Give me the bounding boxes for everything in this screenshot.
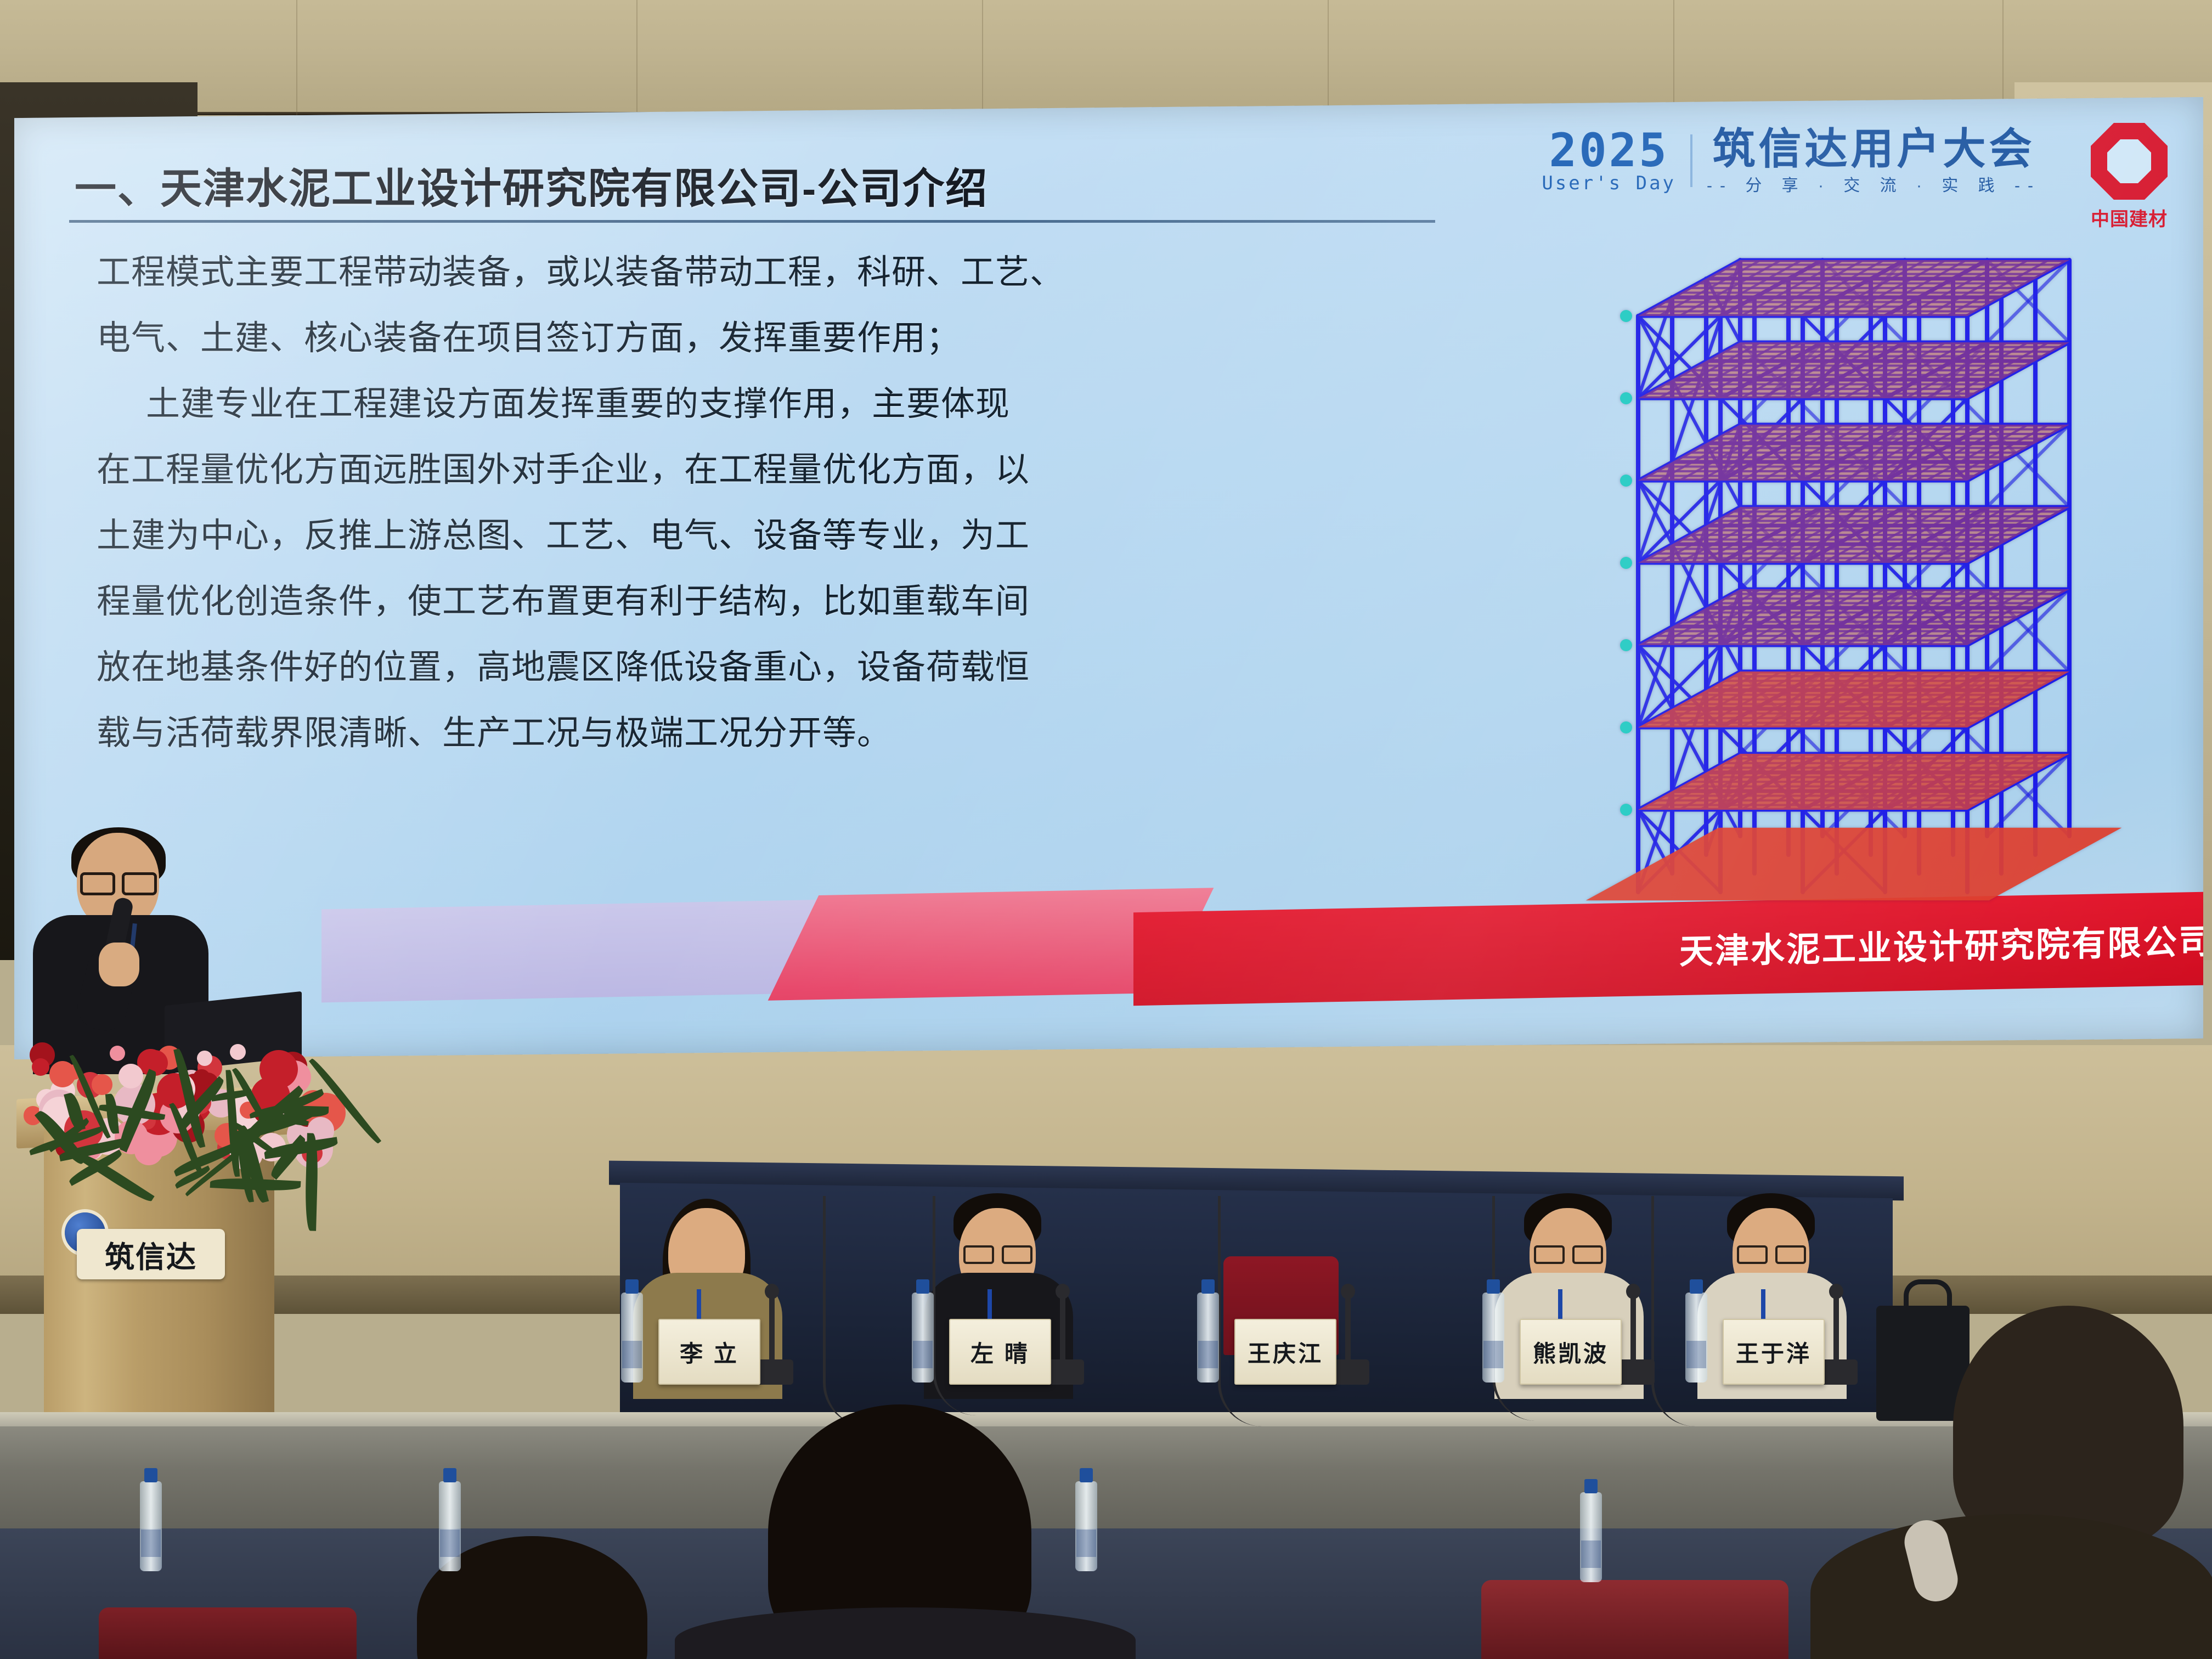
projection-screen: 一、天津水泥工业设计研究院有限公司-公司介绍 2025 User's Day 筑… xyxy=(14,97,2203,1059)
panelist-nameplate: 左 晴 xyxy=(949,1319,1051,1385)
slide-body-line: 土建为中心，反推上游总图、工艺、电气、设备等专业，为工 xyxy=(97,519,1479,553)
water-bottle xyxy=(1075,1481,1097,1571)
support-node xyxy=(1620,310,1632,322)
wall-seam xyxy=(2002,0,2004,115)
water-bottle xyxy=(439,1481,461,1571)
water-bottle xyxy=(1580,1492,1602,1582)
podium-brand-plate: 筑信达 xyxy=(77,1229,225,1279)
title-underline xyxy=(69,220,1435,223)
slide-title: 一、天津水泥工业设计研究院有限公司-公司介绍 xyxy=(75,155,988,215)
floor-slab xyxy=(1638,260,2069,316)
slide-body-line: 电气、土建、核心装备在项目签订方面，发挥重要作用； xyxy=(97,321,1479,356)
conference-year-subtitle: User's Day xyxy=(1542,175,1676,192)
conference-logo: 2025 User's Day 筑信达用户大会 -- 分 享 · 交 流 · 实… xyxy=(1542,127,2041,194)
panelist-name-label: 熊凯波 xyxy=(1533,1335,1609,1369)
slide-body-line: 土建专业在工程建设方面发挥重要的支撑作用，主要体现 xyxy=(97,387,1479,421)
stage-front xyxy=(0,1426,2212,1531)
slide-body-line: 工程模式主要工程带动装备，或以装备带动工程，科研、工艺、 xyxy=(97,256,1479,290)
conference-year: 2025 xyxy=(1549,130,1669,172)
audience-chair xyxy=(99,1607,357,1659)
panelist: 李 立 xyxy=(625,1163,790,1437)
panelist-nameplate: 熊凯波 xyxy=(1520,1319,1622,1385)
support-node xyxy=(1620,639,1632,651)
wall-seam xyxy=(982,0,983,115)
flower xyxy=(119,1064,143,1088)
octagon-mark-icon xyxy=(2091,123,2168,200)
glasses-icon xyxy=(80,872,157,891)
support-node xyxy=(1620,475,1632,487)
panelist-name-label: 王于洋 xyxy=(1736,1335,1812,1369)
sponsor-logo: 中国建材 xyxy=(2077,123,2181,233)
audience-head xyxy=(1953,1306,2183,1547)
floor-slab xyxy=(1638,425,2069,481)
slide-body-line: 放在地基条件好的位置，高地震区降低设备重心，设备荷载恒 xyxy=(97,651,1479,685)
support-node xyxy=(1620,557,1632,569)
wall-seam xyxy=(636,0,637,115)
slide-body-line: 在工程量优化方面远胜国外对手企业，在工程量优化方面，以 xyxy=(97,453,1479,487)
logo-divider xyxy=(1690,134,1692,187)
flower xyxy=(110,1046,125,1061)
water-bottle xyxy=(621,1293,643,1383)
audience-chair xyxy=(1481,1580,1788,1659)
wall-seam xyxy=(1673,0,1674,115)
flower xyxy=(193,1069,210,1086)
cable xyxy=(1218,1196,1297,1426)
water-bottle xyxy=(1482,1293,1504,1383)
conference-title: 筑信达用户大会 xyxy=(1713,127,2035,170)
floor-slab xyxy=(1638,589,2069,645)
floor-slab xyxy=(1638,507,2069,563)
support-node xyxy=(1620,392,1632,404)
flower xyxy=(230,1044,246,1060)
floor-slab xyxy=(1638,342,2069,398)
speaker-hand xyxy=(99,943,139,986)
water-bottle xyxy=(1197,1293,1219,1383)
panelist-name-label: 李 立 xyxy=(680,1335,739,1369)
wall-seam xyxy=(296,0,297,115)
flower xyxy=(197,1051,212,1066)
water-bottle xyxy=(912,1293,934,1383)
conference-photo: 一、天津水泥工业设计研究院有限公司-公司介绍 2025 User's Day 筑… xyxy=(0,0,2212,1659)
cable xyxy=(823,1196,891,1426)
panelist-name-label: 左 晴 xyxy=(970,1335,1030,1369)
slide-body-line: 载与活荷载界限清晰、生产工况与极端工况分开等。 xyxy=(97,716,1479,751)
support-node xyxy=(1620,721,1632,733)
water-bottle xyxy=(140,1481,162,1571)
flower xyxy=(92,1074,112,1095)
support-node xyxy=(1620,804,1632,816)
panelist-nameplate: 李 立 xyxy=(658,1319,760,1385)
flower xyxy=(32,1058,49,1076)
panelist-name-label: 王庆江 xyxy=(1248,1335,1323,1369)
conference-tagline: -- 分 享 · 交 流 · 实 践 -- xyxy=(1707,178,2041,194)
floor-slab xyxy=(1638,672,2069,727)
panelist-nameplate: 王于洋 xyxy=(1723,1319,1825,1385)
slide-body-line: 程量优化创造条件，使工艺布置更有利于结构，比如重载车间 xyxy=(97,585,1479,619)
slide-body-text: 工程模式主要工程带动装备，或以装备带动工程，科研、工艺、电气、土建、核心装备在项… xyxy=(97,256,1479,782)
panelist-nameplate: 王庆江 xyxy=(1234,1319,1336,1385)
structural-frame-model xyxy=(1545,217,2192,1029)
floor-slab xyxy=(1638,754,2069,810)
flower-arrangement xyxy=(22,1020,329,1185)
wall-seam xyxy=(1328,0,1329,115)
water-bottle xyxy=(1685,1293,1707,1383)
glasses-icon xyxy=(1737,1245,1806,1261)
podium-brand-label: 筑信达 xyxy=(105,1233,197,1276)
upper-wall xyxy=(0,0,2212,115)
